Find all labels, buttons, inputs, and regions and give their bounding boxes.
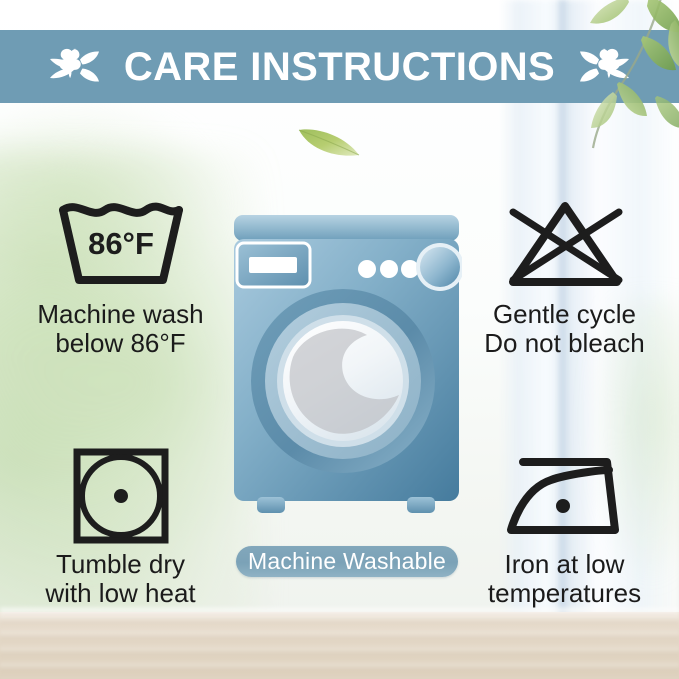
page-title: CARE INSTRUCTIONS (124, 47, 555, 87)
do-not-bleach-triangle-icon (497, 196, 633, 294)
wash-temperature-value: 86°F (88, 226, 154, 261)
care-item-caption: Machine wash below 86°F (37, 300, 203, 358)
care-instructions-infographic: CARE INSTRUCTIONS (0, 0, 679, 679)
background-wood-grain (0, 612, 679, 679)
washer-top-lid (234, 215, 459, 241)
washing-machine-illustration (231, 209, 462, 534)
machine-washable-badge: Machine Washable (236, 546, 458, 577)
care-item-do-not-bleach: Gentle cycle Do not bleach (452, 196, 677, 358)
tumble-dry-low-icon (53, 446, 189, 544)
washer-control-dot (358, 260, 376, 278)
care-item-caption: Iron at low temperatures (488, 550, 641, 608)
washer-foot (407, 497, 435, 513)
floating-leaf-icon (296, 125, 362, 159)
washer-control-dot (380, 260, 398, 278)
foliage-branch-icon (557, 0, 679, 166)
washer-drawer-handle (249, 257, 297, 273)
care-item-iron: Iron at low temperatures (452, 446, 677, 608)
background-table-front-edge (0, 608, 679, 616)
badge-label: Machine Washable (248, 550, 446, 573)
wash-tub-icon: 86°F (53, 196, 189, 294)
care-item-caption: Gentle cycle Do not bleach (484, 300, 644, 358)
fleur-de-lis-icon (48, 45, 106, 89)
care-item-tumble-dry: Tumble dry with low heat (8, 446, 233, 608)
washer-dial (420, 247, 460, 287)
iron-low-temperature-icon (497, 446, 633, 544)
washer-foot (257, 497, 285, 513)
care-item-caption: Tumble dry with low heat (45, 550, 195, 608)
care-item-machine-wash: 86°F Machine wash below 86°F (8, 196, 233, 358)
